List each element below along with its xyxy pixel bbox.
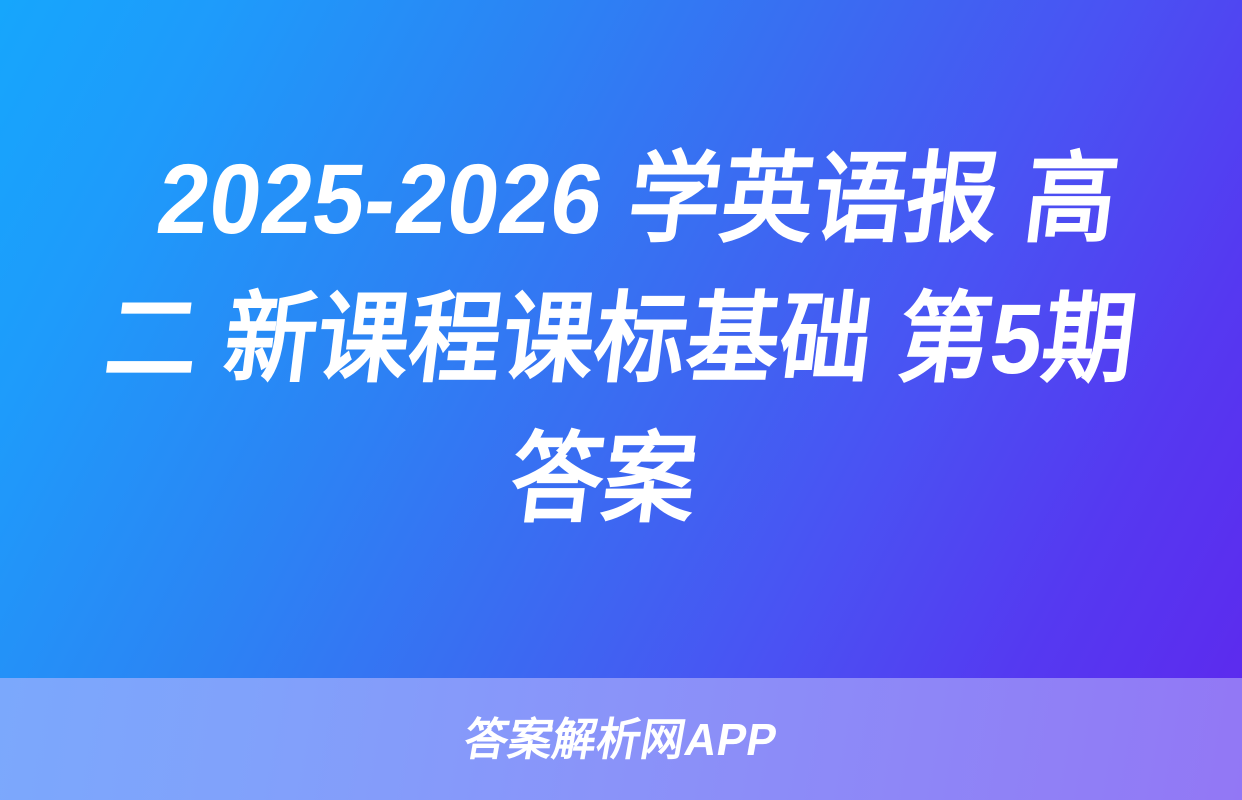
screenshot-canvas: 2025-2026 学英语报 高二 新课程课标基础 第5期答案 答案解析网APP (0, 0, 1242, 800)
app-brand-label: 答案解析网APP (461, 717, 781, 762)
app-watermark-band: 答案解析网APP (0, 678, 1242, 800)
hero-banner: 2025-2026 学英语报 高二 新课程课标基础 第5期答案 (0, 0, 1242, 678)
page-title: 2025-2026 学英语报 高二 新课程课标基础 第5期答案 (72, 129, 1171, 549)
